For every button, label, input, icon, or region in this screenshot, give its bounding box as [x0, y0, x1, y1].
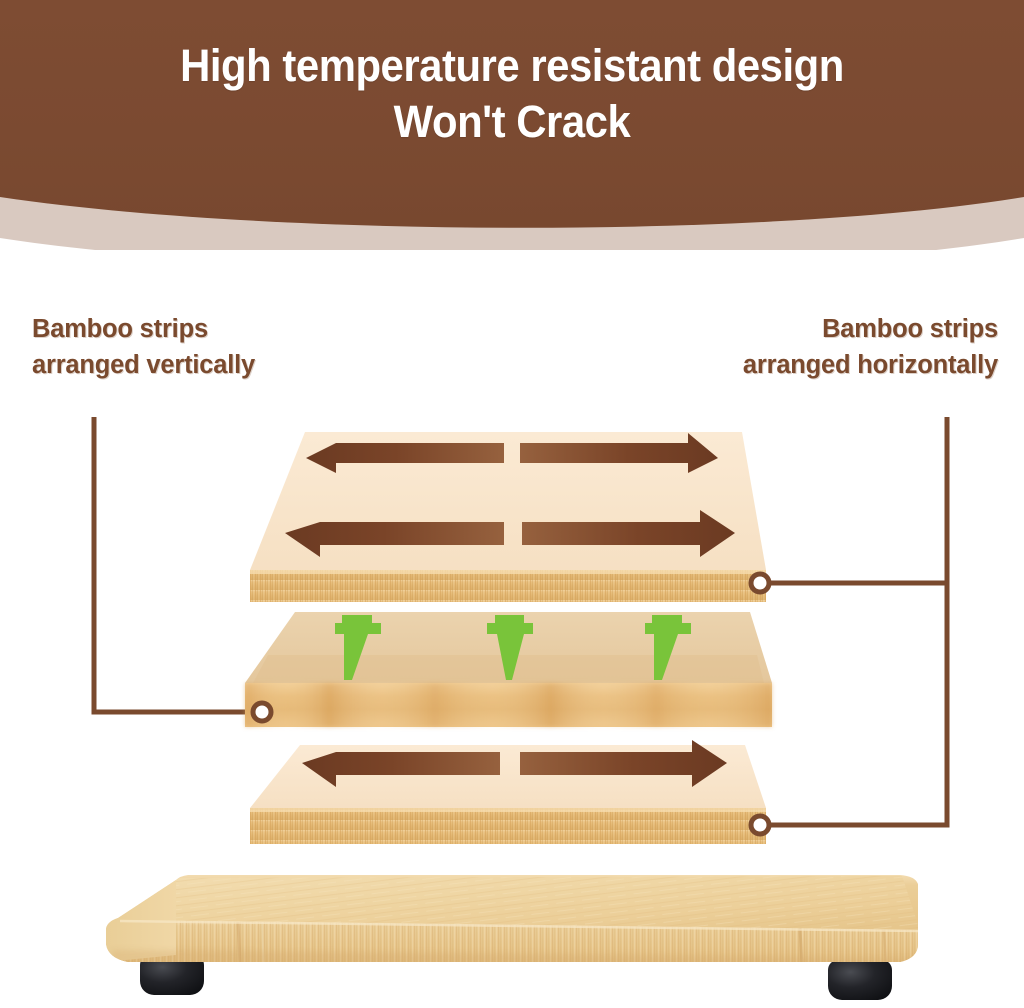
board-body: [106, 875, 920, 968]
infographic-page: High temperature resistant design Won't …: [0, 0, 1024, 1008]
product-bamboo-board: [0, 0, 1024, 1008]
board-foot-right: [828, 960, 892, 1000]
board-left-end: [106, 878, 176, 962]
